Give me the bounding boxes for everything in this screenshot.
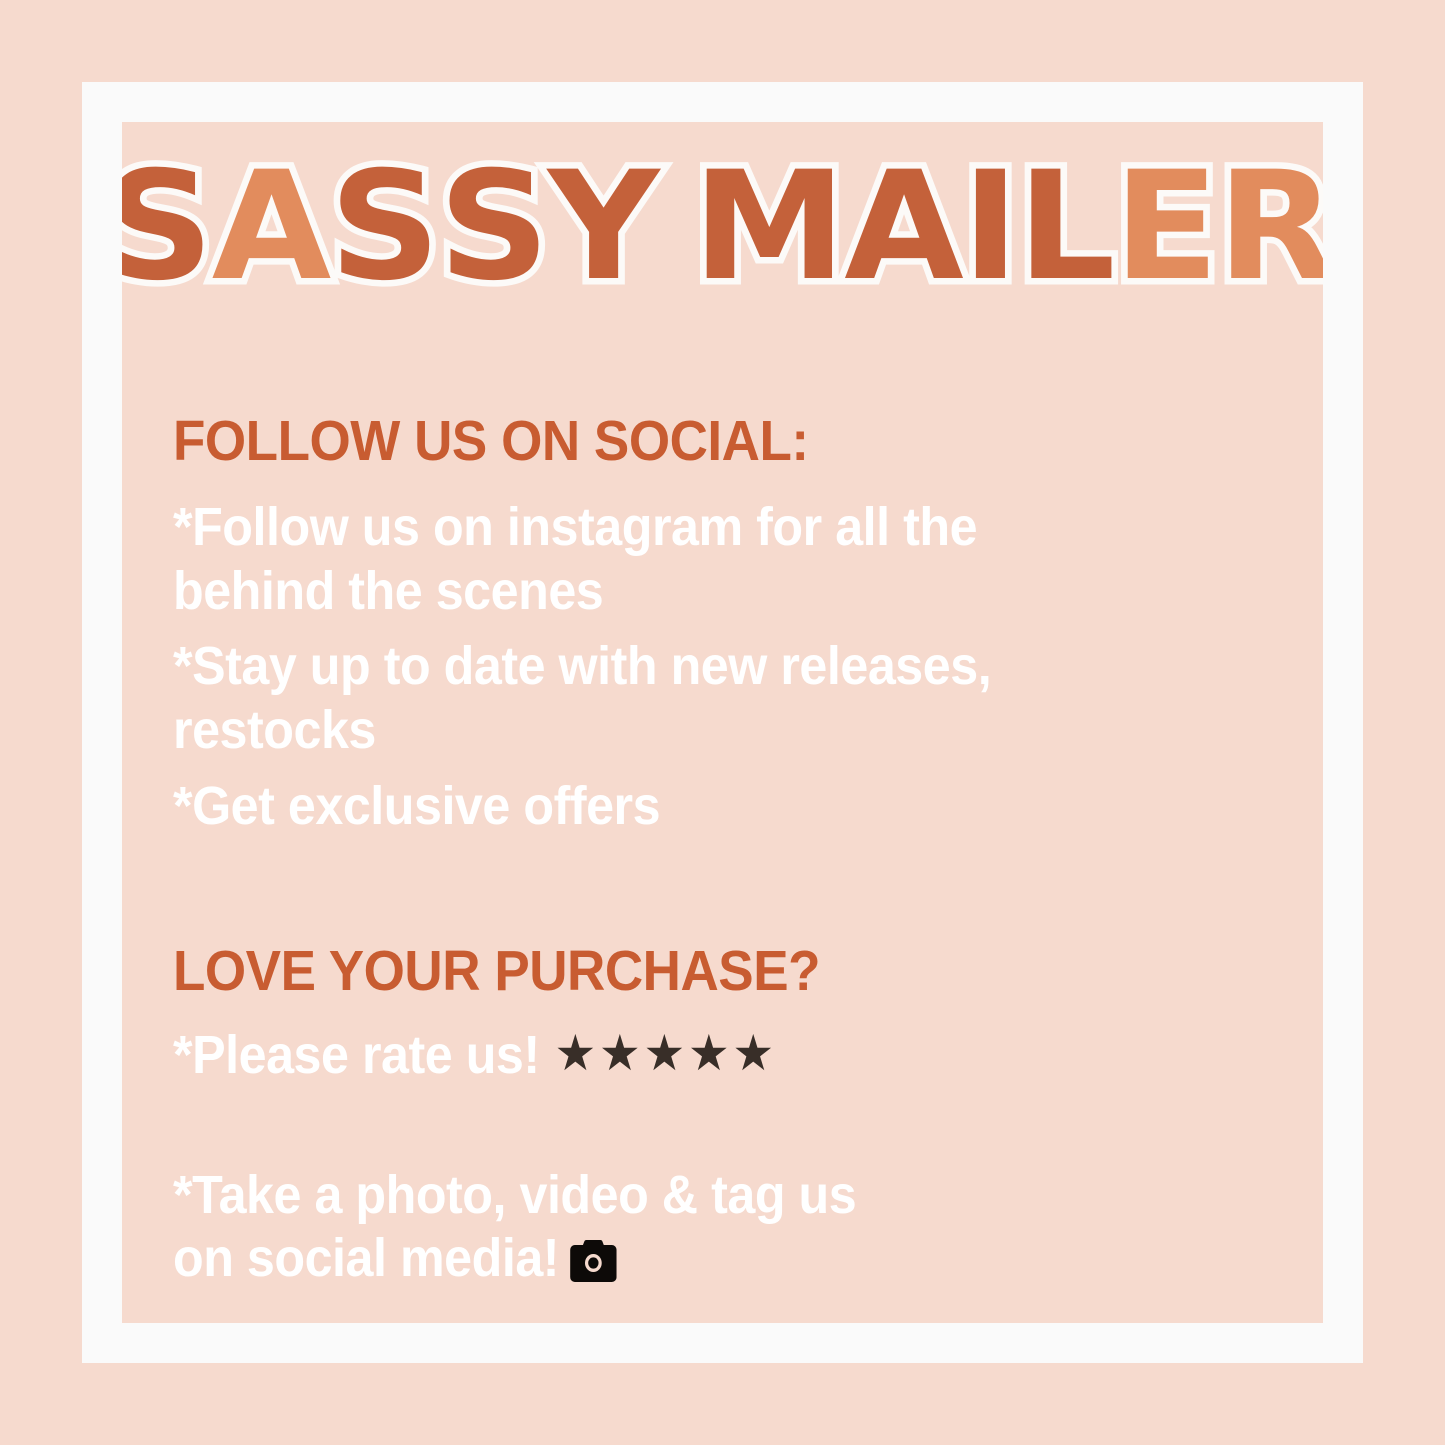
title-letter-3: S <box>438 152 547 302</box>
social-item-2: *Stay up to date with new releases, rest… <box>173 635 1205 762</box>
purchase-section-heading: LOVE YOUR PURCHASE? <box>173 942 1205 1002</box>
title-letter-0: S <box>122 152 212 302</box>
section-spacer <box>173 850 1283 942</box>
social-item-1: *Follow us on instagram for all the behi… <box>173 496 1205 623</box>
title-block: SASSYMAILERS <box>122 152 1323 302</box>
title-letter-1: A <box>212 152 330 302</box>
rate-us-label: *Please rate us! <box>173 1024 540 1088</box>
title-letter-9: L <box>1017 152 1113 302</box>
tag-us-label: *Take a photo, video & tag us on social … <box>173 1165 856 1289</box>
title-letter-2: S <box>329 152 438 302</box>
title-letter-6: M <box>693 152 845 302</box>
sassy-mailers-insert-card: SASSYMAILERS FOLLOW US ON SOCIAL: *Follo… <box>0 0 1445 1445</box>
page-title: SASSYMAILERS <box>122 152 1323 302</box>
tag-us-line: *Take a photo, video & tag us on social … <box>173 1100 1205 1298</box>
title-letter-8: I <box>962 152 1017 302</box>
social-item-3: *Get exclusive offers <box>173 775 1205 839</box>
social-section-heading: FOLLOW US ON SOCIAL: <box>173 412 1205 472</box>
title-letter-7: A <box>844 152 962 302</box>
title-letter-11: R <box>1217 152 1323 302</box>
content-body: FOLLOW US ON SOCIAL: *Follow us on insta… <box>173 412 1283 1310</box>
rate-us-line: *Please rate us! ★★★★★ <box>173 1024 1205 1088</box>
inner-content-panel: SASSYMAILERS FOLLOW US ON SOCIAL: *Follo… <box>122 122 1323 1323</box>
title-letter-4: Y <box>548 152 658 302</box>
camera-icon <box>570 1234 617 1298</box>
star-rating: ★★★★★ <box>555 1028 777 1078</box>
title-letter-10: E <box>1114 152 1217 302</box>
